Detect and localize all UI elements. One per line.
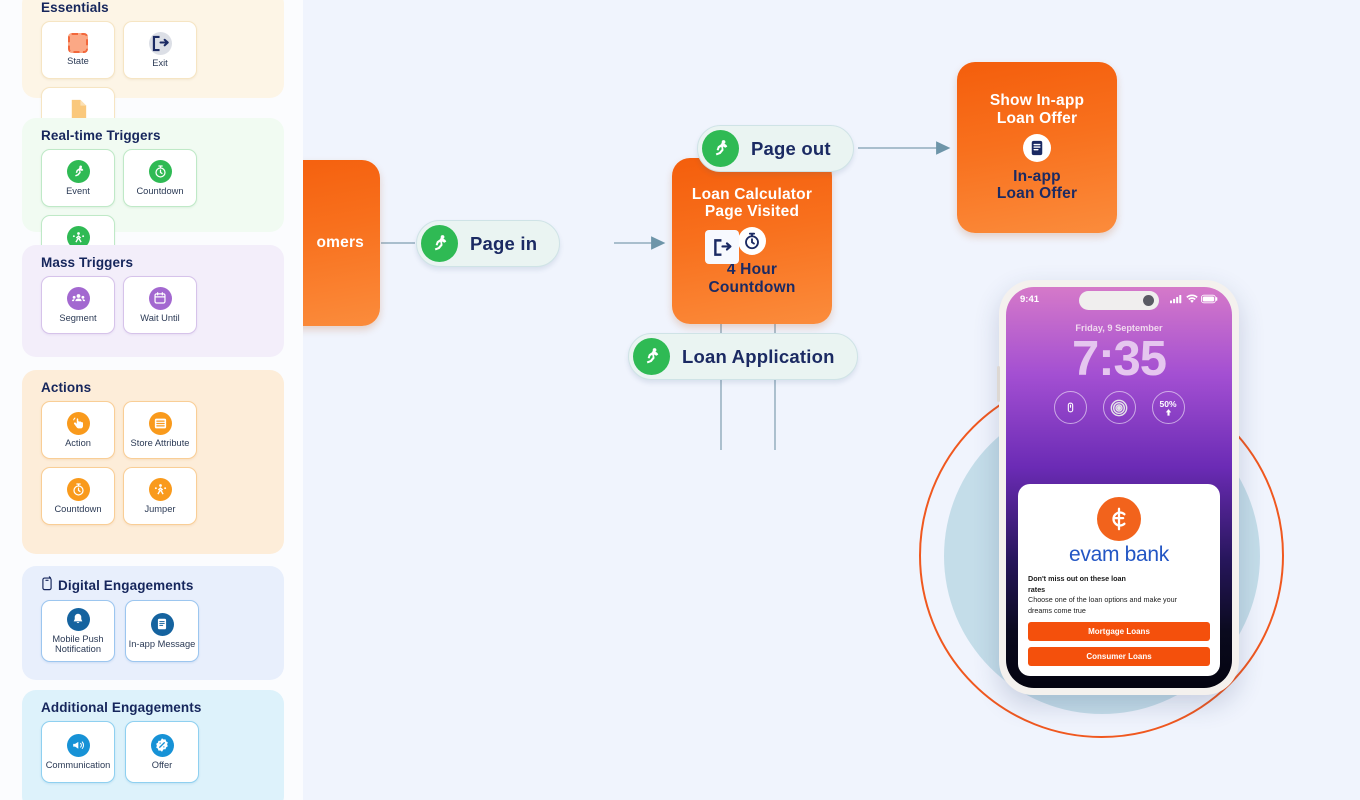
component-palette-sidebar[interactable]: Essentials State Exit Sticky Note Real-t… [0,0,303,800]
tile-label: Exit [152,58,168,68]
dashed-square-icon [68,33,88,53]
lockscreen-widgets: 50% [1006,391,1232,424]
tile-segment[interactable]: Segment [41,276,115,334]
cta-consumer-loans[interactable]: Consumer Loans [1028,647,1210,666]
tile-action[interactable]: Action [41,401,115,459]
tile-label: Mobile Push Notification [42,634,114,655]
tile-exit[interactable]: Exit [123,21,197,79]
node-label: Page in [470,233,537,255]
flow-node-loan-calculator[interactable]: Loan Calculator Page Visited 4 Hour Coun… [672,158,832,324]
flow-node-exit-marker[interactable] [705,230,739,264]
tile-offer[interactable]: Offer [125,721,199,783]
node-subtitle: In-app Loan Offer [997,168,1077,203]
tile-label: Jumper [144,504,175,514]
tile-event[interactable]: Event [41,149,115,207]
tile-label: Store Attribute [131,438,190,448]
node-title: Loan Calculator Page Visited [692,186,812,221]
tile-label: In-app Message [129,639,196,649]
tile-communication[interactable]: Communication [41,721,115,783]
tile-group-actions: Action Store Attribute Countdown Jumper [32,401,274,525]
palette-section-realtime-triggers: Real-time Triggers Event Countdown Jumpe… [22,118,284,232]
cta-mortgage-loans[interactable]: Mortgage Loans [1028,622,1210,641]
tile-label: Event [66,186,90,196]
tile-label: Action [65,438,91,448]
flow-node-loan-application[interactable]: Loan Application [628,333,858,380]
section-title-actions: Actions [41,380,274,395]
cellular-icon [1170,291,1183,309]
phone-side-button [997,366,1000,402]
rings-widget[interactable] [1103,391,1136,424]
phone-status-bar: 9:41 [1006,287,1232,312]
tile-countdown-action[interactable]: Countdown [41,467,115,525]
lockscreen-time: 7:35 [1006,333,1232,385]
brand-name: evam bank [1028,543,1210,567]
message-body-line: rates [1028,585,1210,595]
wifi-icon [1186,291,1198,309]
section-title-digital-engagements: Digital Engagements [41,576,274,594]
node-label: omers [316,234,364,252]
tile-mobile-push-notification[interactable]: Mobile Push Notification [41,600,115,662]
dynamic-island [1079,291,1159,310]
section-title-essentials: Essentials [41,0,274,15]
phone-preview: 9:41 [915,260,1315,740]
palette-section-essentials: Essentials State Exit Sticky Note [22,0,284,98]
list-icon [149,412,172,435]
stopwatch-icon [149,160,172,183]
tile-countdown[interactable]: Countdown [123,149,197,207]
runner-icon [67,160,90,183]
tile-label: Countdown [136,186,183,196]
bell-icon [67,608,90,631]
tile-group-digital: Mobile Push Notification In-app Message [32,600,274,662]
node-title: Show In-app Loan Offer [990,92,1084,127]
tile-state[interactable]: State [41,21,115,79]
message-body-line: Choose one of the loan options and make … [1028,595,1210,605]
node-label: Page out [751,138,831,160]
battery-widget-label: 50% [1159,399,1176,409]
battery-widget[interactable]: 50% [1152,391,1185,424]
in-app-message-card[interactable]: evam bank Don't miss out on these loan r… [1018,484,1220,676]
runner-icon [633,338,670,375]
calendar-icon [149,287,172,310]
flow-node-customers[interactable]: omers [303,160,380,326]
tile-in-app-message[interactable]: In-app Message [125,600,199,662]
tile-label: State [67,56,89,66]
section-title-additional-engagements: Additional Engagements [41,700,274,715]
section-title-text: Digital Engagements [58,578,193,593]
message-body-line: Don't miss out on these loan [1028,574,1210,584]
tile-wait-until[interactable]: Wait Until [123,276,197,334]
tile-label: Offer [152,760,173,770]
tile-label: Wait Until [140,313,179,323]
node-subtitle: 4 Hour Countdown [708,261,795,296]
message-body-line: dreams come true [1028,606,1210,616]
flow-canvas[interactable]: omers Page in Loan Calculator Page Visit… [303,0,1360,800]
flow-node-show-in-app-loan-offer[interactable]: Show In-app Loan Offer In-app Loan Offer [957,62,1117,233]
battery-icon [1201,291,1218,309]
tap-hand-icon [67,412,90,435]
tile-label: Communication [46,760,111,770]
runner-icon [421,225,458,262]
evam-coin-icon [1097,497,1141,541]
status-bar-time: 9:41 [1020,294,1039,305]
palette-section-mass-triggers: Mass Triggers Segment Wait Until [22,245,284,357]
palette-section-actions: Actions Action Store Attribute Countdown [22,370,284,554]
people-icon [67,287,90,310]
tile-label: Segment [59,313,96,323]
palette-section-digital-engagements: Digital Engagements Mobile Push Notifica… [22,566,284,680]
status-bar-indicators [1170,291,1218,309]
runner-icon [702,130,739,167]
document-icon [151,613,174,636]
phone-device: 9:41 [999,280,1239,695]
flow-node-page-in[interactable]: Page in [416,220,560,267]
megaphone-icon [67,734,90,757]
exit-icon [149,32,172,55]
tile-group-mass: Segment Wait Until [32,276,274,334]
percent-icon [151,734,174,757]
tile-label: Countdown [54,504,101,514]
alarm-widget[interactable] [1054,391,1087,424]
device-icon [41,576,53,594]
flow-node-page-out[interactable]: Page out [697,125,854,172]
stopwatch-icon [738,227,766,255]
in-app-message-icon [1023,134,1051,162]
section-title-mass-triggers: Mass Triggers [41,255,274,270]
tile-store-attribute[interactable]: Store Attribute [123,401,197,459]
palette-section-additional-engagements: Additional Engagements Communication Off… [22,690,284,800]
phone-screen: 9:41 [1006,287,1232,688]
stopwatch-icon [67,478,90,501]
tile-jumper-action[interactable]: Jumper [123,467,197,525]
front-camera-icon [1143,295,1154,306]
jumper-icon [149,478,172,501]
tile-group-additional: Communication Offer [32,721,274,783]
section-title-realtime-triggers: Real-time Triggers [41,128,274,143]
node-label: Loan Application [682,346,835,368]
